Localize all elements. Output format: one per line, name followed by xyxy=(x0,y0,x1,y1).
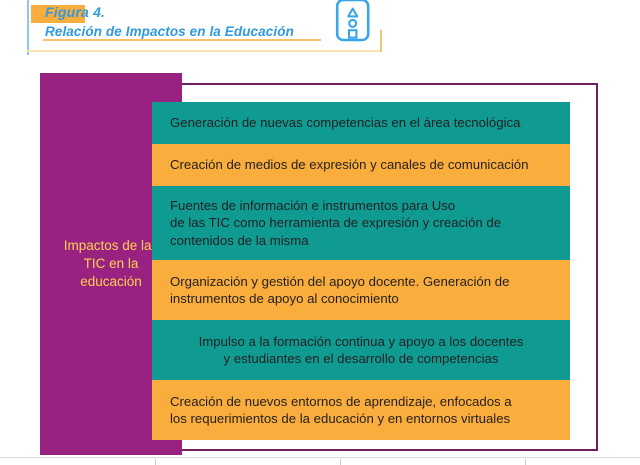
diagram-item-row: Creación de medios de expresión y canale… xyxy=(152,144,570,186)
diagram-item-row: Fuentes de información e instrumentos pa… xyxy=(152,186,570,260)
diagram-item-label: Organización y gestión del apoyo docente… xyxy=(152,273,570,307)
footer-tick xyxy=(340,459,341,465)
diagram-item-row: Creación de nuevos entornos de aprendiza… xyxy=(152,380,570,440)
footer-rule xyxy=(0,457,640,458)
figure-subtitle: Relación de Impactos en la Educación xyxy=(45,24,294,39)
diagram-item-list: Generación de nuevas competencias en el … xyxy=(152,102,570,440)
diagram-item-row: Generación de nuevas competencias en el … xyxy=(152,102,570,144)
figure-header: Figura 4. Relación de Impactos en la Edu… xyxy=(0,0,640,58)
figure-number-label: Figura 4. xyxy=(45,4,105,20)
subtitle-underline xyxy=(43,39,321,41)
diagram-item-row: Organización y gestión del apoyo docente… xyxy=(152,260,570,320)
diagram-item-label: Creación de nuevos entornos de aprendiza… xyxy=(152,393,570,427)
diagram-item-label: Generación de nuevas competencias en el … xyxy=(152,114,570,131)
diagram-item-label: Creación de medios de expresión y canale… xyxy=(152,156,570,173)
header-left-vertical-rule xyxy=(27,0,29,55)
footer-tick xyxy=(525,459,526,465)
document-shapes-icon xyxy=(334,0,372,46)
diagram-item-row: Impulso a la formación continua y apoyo … xyxy=(152,320,570,380)
footer-tick xyxy=(155,459,156,465)
header-horizontal-rule xyxy=(27,50,380,52)
header-right-vertical-rule xyxy=(380,30,382,52)
diagram-item-label: Impulso a la formación continua y apoyo … xyxy=(152,333,570,367)
diagram-item-label: Fuentes de información e instrumentos pa… xyxy=(152,197,570,248)
